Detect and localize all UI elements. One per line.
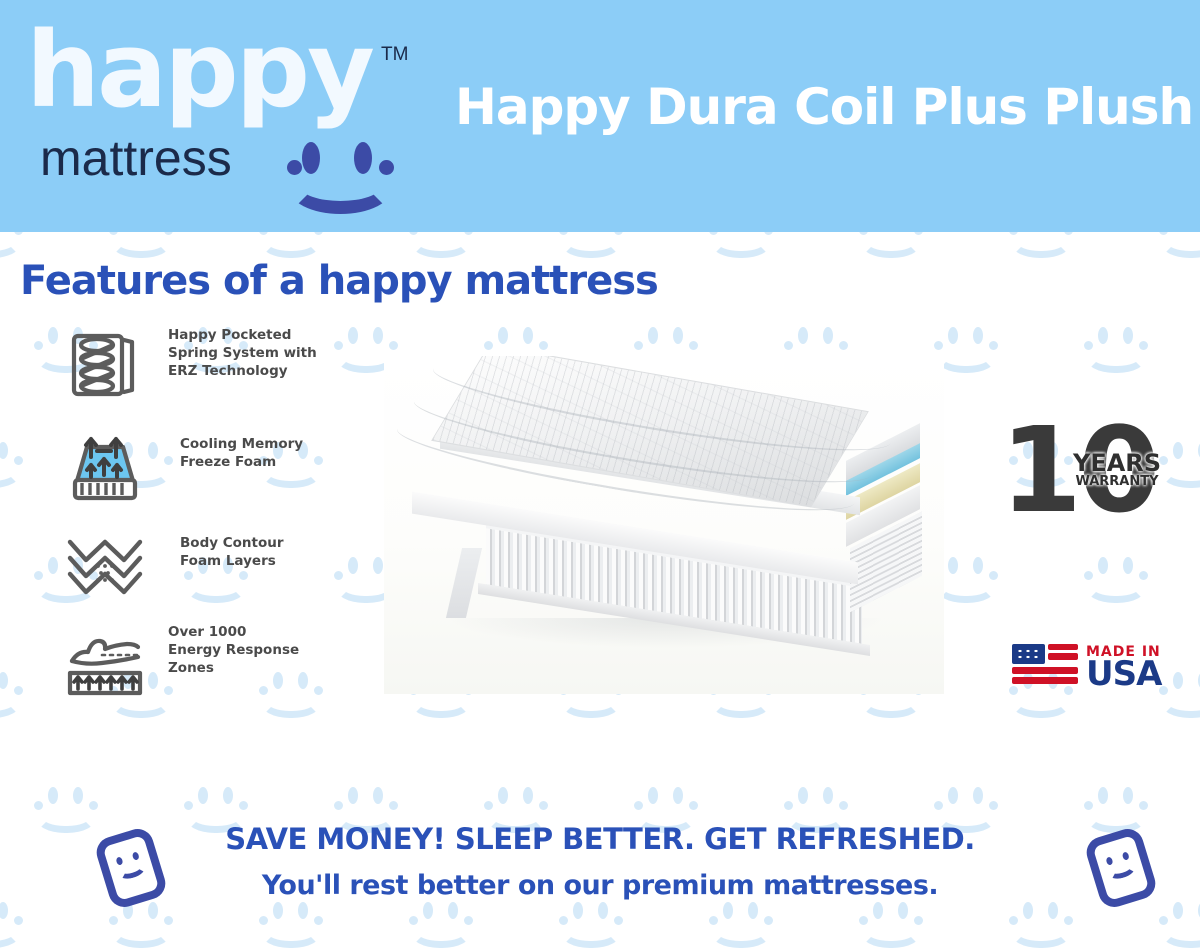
features-section-title: Features of a happy mattress bbox=[20, 258, 658, 304]
feature-item: Body Contour Foam Layers bbox=[40, 516, 370, 615]
smiley-face-watermark bbox=[1085, 557, 1147, 603]
smiley-face-watermark bbox=[1085, 327, 1147, 373]
logo-word-happy: happy bbox=[26, 18, 426, 122]
feature-label: Body Contour Foam Layers bbox=[180, 534, 380, 570]
logo-word-mattress: mattress bbox=[40, 133, 232, 183]
feature-label: Happy Pocketed Spring System with ERZ Te… bbox=[168, 326, 368, 380]
us-flag-icon bbox=[1012, 644, 1078, 690]
smiley-face-watermark bbox=[0, 672, 22, 718]
features-list: Happy Pocketed Spring System with ERZ Te… bbox=[40, 318, 370, 714]
warranty-years-label: YEARS bbox=[1064, 451, 1170, 475]
feature-item: Happy Pocketed Spring System with ERZ Te… bbox=[40, 318, 370, 417]
page-footer: SAVE MONEY! SLEEP BETTER. GET REFRESHED.… bbox=[0, 812, 1200, 927]
usa-label: USA bbox=[1086, 657, 1161, 691]
smiley-face-watermark bbox=[0, 442, 22, 488]
brand-logo[interactable]: happy TM mattress bbox=[26, 18, 426, 208]
product-title: Happy Dura Coil Plus Plush bbox=[455, 78, 1175, 136]
smiley-face-watermark bbox=[935, 557, 997, 603]
page-header: happy TM mattress Happy Dura Coil Plus P… bbox=[0, 0, 1200, 232]
warranty-word-label: WARRANTY bbox=[1064, 475, 1170, 489]
quilted-cover-top bbox=[431, 356, 869, 507]
body-support-zones-icon bbox=[60, 615, 150, 707]
trademark-symbol: TM bbox=[381, 44, 408, 66]
feature-item: Cooling Memory Freeze Foam bbox=[40, 417, 370, 516]
layered-foam-chevron-icon bbox=[60, 516, 150, 608]
feature-label: Cooling Memory Freeze Foam bbox=[180, 435, 380, 471]
warranty-text-block: YEARS WARRANTY bbox=[1064, 451, 1170, 489]
smiley-face-watermark bbox=[935, 327, 997, 373]
made-in-usa-badge: MADE IN USA bbox=[1012, 640, 1172, 696]
pocketed-spring-coil-icon bbox=[60, 318, 150, 410]
footer-headline: SAVE MONEY! SLEEP BETTER. GET REFRESHED. bbox=[0, 822, 1200, 856]
product-image bbox=[384, 356, 944, 694]
mattress-cutaway-illustration bbox=[406, 372, 922, 642]
smiley-face-icon bbox=[288, 142, 393, 212]
cooling-foam-airflow-icon bbox=[60, 417, 150, 509]
warranty-badge: 10 YEARS WARRANTY bbox=[1000, 415, 1175, 525]
footer-subline: You'll rest better on our premium mattre… bbox=[0, 870, 1200, 901]
feature-label: Over 1000 Energy Response Zones bbox=[168, 623, 368, 677]
feature-item: Over 1000 Energy Response Zones bbox=[40, 615, 370, 714]
mattress-fabric-flap bbox=[446, 548, 482, 618]
